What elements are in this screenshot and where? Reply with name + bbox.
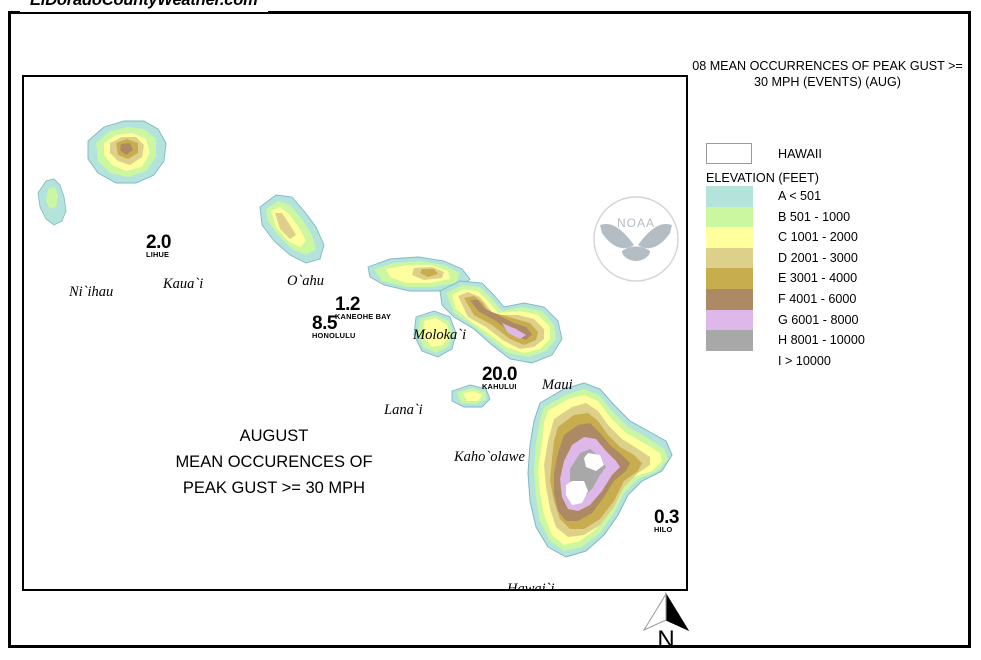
station-value: 1.2 — [335, 296, 391, 313]
noaa-logo: NOAA — [592, 195, 680, 283]
legend-swatch — [706, 289, 753, 310]
station-value: 20.0 — [482, 366, 517, 383]
legend-swatch — [706, 351, 753, 372]
legend-row: E 3001 - 4000 — [706, 268, 966, 289]
station-value: 0.3 — [654, 509, 679, 526]
station-marker[interactable]: 8.5HONOLULU — [312, 315, 355, 340]
site-title: ElDoradoCountyWeather.com — [20, 0, 268, 12]
station-name: KAHULUI — [482, 383, 517, 391]
legend-swatch — [706, 186, 753, 207]
island-label: O`ahu — [287, 273, 324, 290]
caption-line-2: MEAN OCCURENCES OF — [124, 449, 424, 475]
island-label: Maui — [542, 377, 573, 394]
island-niihau — [38, 179, 66, 225]
legend-label: D 2001 - 3000 — [778, 248, 858, 269]
legend-row: F 4001 - 6000 — [706, 289, 966, 310]
legend-label: H 8001 - 10000 — [778, 330, 865, 351]
station-marker[interactable]: 2.0LIHUE — [146, 234, 171, 259]
island-label: Moloka`i — [413, 327, 466, 344]
legend-swatch — [706, 310, 753, 331]
legend-label: A < 501 — [778, 186, 821, 207]
station-value: 8.5 — [312, 315, 355, 332]
legend-hawaii-label: HAWAII — [778, 147, 822, 161]
island-kauai — [88, 121, 166, 183]
map-header-title: 08 MEAN OCCURRENCES OF PEAK GUST >= 30 M… — [680, 58, 975, 90]
legend-row: B 501 - 1000 — [706, 207, 966, 228]
island-oahu — [260, 195, 324, 263]
island-label: Kaho`olawe — [454, 449, 525, 466]
legend-swatch — [706, 330, 753, 351]
legend-row: H 8001 - 10000 — [706, 330, 966, 351]
legend-row: I > 10000 — [706, 351, 966, 372]
map-canvas[interactable]: NOAA AUGUST MEAN OCCURENCES OF PEAK GUST… — [22, 75, 688, 591]
header-line-2: 30 MPH (EVENTS) (AUG) — [680, 74, 975, 90]
legend-swatch — [706, 248, 753, 269]
noaa-logo-text: NOAA — [617, 216, 655, 230]
legend-elevation-title: ELEVATION (FEET) — [706, 171, 966, 185]
island-label: Hawai`i — [507, 581, 555, 591]
station-name: LIHUE — [146, 251, 171, 259]
header-line-1: 08 MEAN OCCURRENCES OF PEAK GUST >= — [680, 58, 975, 74]
legend-swatch — [706, 227, 753, 248]
legend-label: B 501 - 1000 — [778, 207, 850, 228]
island-label: Ni`ihau — [69, 284, 113, 301]
island-label: Lana`i — [384, 402, 423, 419]
legend-row: G 6001 - 8000 — [706, 310, 966, 331]
island-maui — [440, 281, 562, 363]
map-caption: AUGUST MEAN OCCURENCES OF PEAK GUST >= 3… — [124, 423, 424, 501]
legend-elevation-rows: A < 501B 501 - 1000C 1001 - 2000D 2001 -… — [706, 186, 966, 371]
legend-label: G 6001 - 8000 — [778, 310, 859, 331]
legend-label: E 3001 - 4000 — [778, 268, 857, 289]
north-label: N — [636, 628, 696, 652]
legend-panel: HAWAII ELEVATION (FEET) A < 501B 501 - 1… — [706, 143, 966, 371]
caption-line-1: AUGUST — [124, 423, 424, 449]
station-value: 2.0 — [146, 234, 171, 251]
island-label: Kaua`i — [163, 276, 203, 293]
legend-label: C 1001 - 2000 — [778, 227, 858, 248]
caption-line-3: PEAK GUST >= 30 MPH — [124, 475, 424, 501]
station-name: HONOLULU — [312, 332, 355, 340]
legend-hawaii-row: HAWAII — [706, 143, 966, 164]
north-arrow: N — [636, 592, 696, 654]
station-marker[interactable]: 20.0KAHULUI — [482, 366, 517, 391]
station-marker[interactable]: 0.3HILO — [654, 509, 679, 534]
legend-label: F 4001 - 6000 — [778, 289, 856, 310]
legend-label: I > 10000 — [778, 351, 831, 372]
legend-swatch — [706, 268, 753, 289]
legend-row: C 1001 - 2000 — [706, 227, 966, 248]
island-hawaii — [528, 383, 672, 557]
legend-swatch — [706, 207, 753, 228]
legend-row: D 2001 - 3000 — [706, 248, 966, 269]
legend-row: A < 501 — [706, 186, 966, 207]
legend-hawaii-swatch — [706, 143, 752, 164]
